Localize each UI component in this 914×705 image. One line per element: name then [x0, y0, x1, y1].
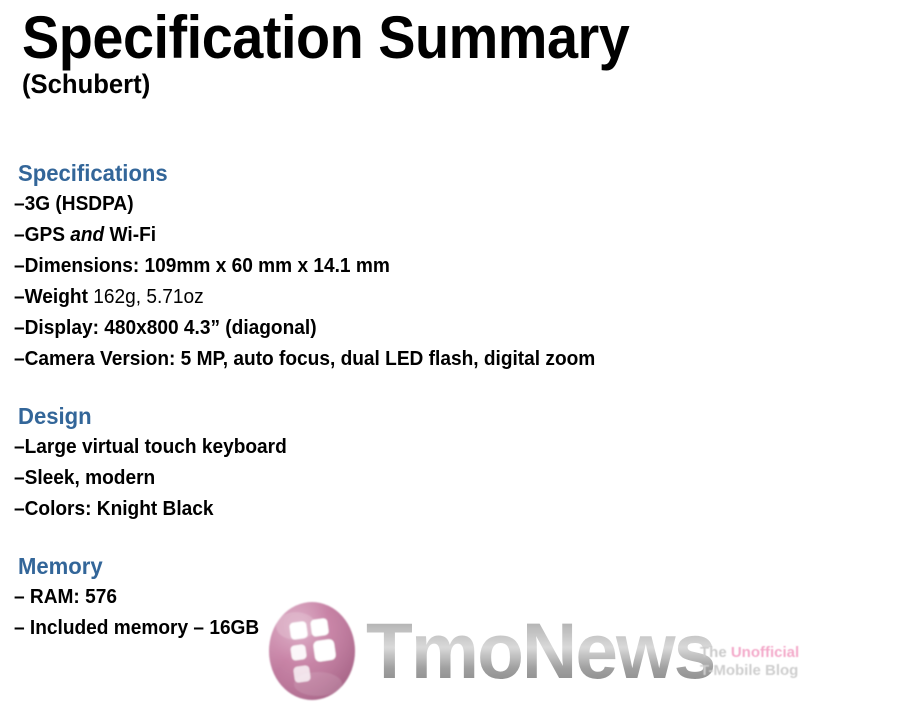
list-item: –GPS and Wi-Fi: [14, 220, 854, 251]
list-item-text: RAM: 576: [30, 586, 117, 608]
list-item: –Sleek, modern: [14, 463, 854, 494]
bullet-list-memory: – RAM: 576– Included memory – 16GB: [14, 582, 894, 644]
list-item: – Included memory – 16GB: [14, 613, 854, 644]
list-item: –Dimensions: 109mm x 60 mm x 14.1 mm: [14, 251, 854, 282]
page-title: Specification Summary: [22, 6, 822, 70]
tagline-line-2: T-Mobile Blog: [700, 662, 799, 680]
bullet-dash: –: [14, 317, 25, 339]
list-item-text: 162g, 5.71oz: [93, 286, 203, 308]
list-item-text: GPS: [25, 224, 71, 246]
title-block: Specification Summary (Schubert): [22, 6, 882, 100]
section-heading-memory: Memory: [18, 551, 859, 582]
section-memory: Memory– RAM: 576– Included memory – 16GB: [14, 551, 894, 644]
bullet-dash: –: [14, 286, 25, 308]
bullet-dash: –: [14, 498, 25, 520]
section-design: Design–Large virtual touch keyboard–Slee…: [14, 401, 894, 525]
bullet-dash: –: [14, 586, 30, 608]
section-specifications: Specifications–3G (HSDPA)–GPS and Wi-Fi–…: [14, 158, 894, 375]
list-item: –Camera Version: 5 MP, auto focus, dual …: [14, 344, 854, 375]
bullet-list-specifications: –3G (HSDPA)–GPS and Wi-Fi–Dimensions: 10…: [14, 189, 894, 375]
section-heading-design: Design: [18, 401, 859, 432]
list-item-text: Sleek, modern: [25, 467, 156, 489]
bullet-dash: –: [14, 348, 25, 370]
list-item: –Display: 480x800 4.3” (diagonal): [14, 313, 854, 344]
bullet-dash: –: [14, 255, 25, 277]
list-item-text: Colors: Knight Black: [25, 498, 214, 520]
sections-container: Specifications–3G (HSDPA)–GPS and Wi-Fi–…: [14, 158, 894, 644]
list-item-text: Dimensions: 109mm x 60 mm x 14.1 mm: [25, 255, 390, 277]
list-item-text: Camera Version: 5 MP, auto focus, dual L…: [25, 348, 596, 370]
tmonews-tagline: The Unofficial T-Mobile Blog: [700, 644, 799, 680]
list-item-text: Included memory – 16GB: [30, 617, 259, 639]
tagline-highlight: Unofficial: [731, 644, 799, 661]
list-item-text: Weight: [25, 286, 94, 308]
bullet-list-design: –Large virtual touch keyboard–Sleek, mod…: [14, 432, 894, 525]
page-subtitle: (Schubert): [22, 68, 839, 100]
list-item: – RAM: 576: [14, 582, 854, 613]
list-item-text: Display: 480x800 4.3” (diagonal): [25, 317, 317, 339]
list-item-text: and: [70, 224, 104, 246]
list-item: –Weight 162g, 5.71oz: [14, 282, 854, 313]
bullet-dash: –: [14, 617, 30, 639]
slide-canvas: Specification Summary (Schubert) Specifi…: [0, 0, 914, 705]
bullet-dash: –: [14, 436, 25, 458]
list-item-text: Large virtual touch keyboard: [25, 436, 287, 458]
list-item-text: Wi-Fi: [104, 224, 156, 246]
content-body: Specifications–3G (HSDPA)–GPS and Wi-Fi–…: [14, 158, 894, 644]
section-heading-specifications: Specifications: [18, 158, 859, 189]
list-item: –Large virtual touch keyboard: [14, 432, 854, 463]
list-item: –3G (HSDPA): [14, 189, 854, 220]
bullet-dash: –: [14, 224, 25, 246]
list-item: –Colors: Knight Black: [14, 494, 854, 525]
bullet-dash: –: [14, 467, 25, 489]
tagline-prefix: The: [700, 644, 731, 661]
tagline-line-1: The Unofficial: [700, 644, 799, 662]
list-item-text: 3G (HSDPA): [25, 193, 134, 215]
bullet-dash: –: [14, 193, 25, 215]
